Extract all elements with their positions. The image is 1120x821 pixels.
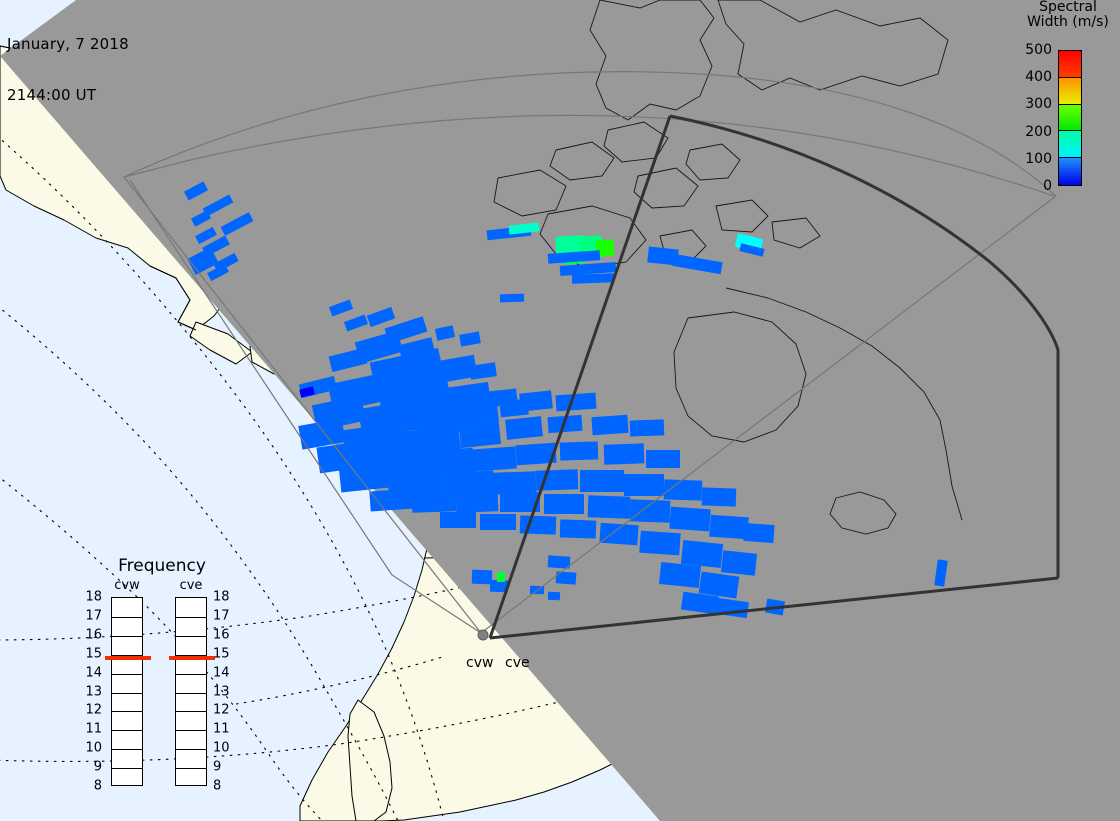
- frequency-gridline: [176, 636, 206, 637]
- frequency-gridline: [112, 711, 142, 712]
- frequency-tick-9: 9: [94, 760, 102, 775]
- fov-cve: [490, 116, 1058, 638]
- colorbar-segment-400-500: [1059, 51, 1081, 78]
- frequency-gridline: [112, 617, 142, 618]
- colorbar-title-line1: Spectral: [1016, 0, 1120, 15]
- frequency-tick-12: 12: [213, 703, 230, 718]
- frequency-gridline: [176, 749, 206, 750]
- frequency-tick-8: 8: [94, 779, 102, 794]
- frequency-scale-right: 18171615141312111098: [213, 597, 233, 786]
- colorbar-gradient: [1058, 50, 1082, 186]
- frequency-tick-16: 16: [213, 627, 230, 642]
- frequency-tick-17: 17: [213, 608, 230, 623]
- frequency-gridline: [176, 768, 206, 769]
- frequency-gridline: [176, 730, 206, 731]
- frequency-tick-18: 18: [85, 590, 102, 605]
- frequency-tick-17: 17: [85, 608, 102, 623]
- frequency-scale-left: 18171615141312111098: [82, 597, 102, 786]
- colorbar-segment-0-100: [1059, 158, 1081, 185]
- frequency-legend-title: Frequency: [88, 556, 236, 576]
- frequency-tick-10: 10: [213, 741, 230, 756]
- frequency-tick-12: 12: [85, 703, 102, 718]
- frequency-label-cvw: cvw: [104, 578, 150, 593]
- timestamp-date: January, 7 2018: [7, 36, 129, 53]
- colorbar-tick-200: 200: [1025, 124, 1052, 140]
- frequency-tick-11: 11: [213, 722, 230, 737]
- colorbar-segment-200-300: [1059, 105, 1081, 132]
- frequency-tick-8: 8: [213, 779, 221, 794]
- colorbar-tick-0: 0: [1043, 178, 1052, 194]
- site-label-cve: cve: [505, 655, 530, 671]
- frequency-gridline: [112, 636, 142, 637]
- frequency-tick-16: 16: [85, 627, 102, 642]
- colorbar-segment-100-200: [1059, 131, 1081, 158]
- frequency-tick-14: 14: [213, 665, 230, 680]
- frequency-gridline: [112, 768, 142, 769]
- frequency-tick-11: 11: [85, 722, 102, 737]
- frequency-marker-cvw: [105, 656, 151, 660]
- frequency-tick-9: 9: [213, 760, 221, 775]
- frequency-tick-14: 14: [85, 665, 102, 680]
- radar-site-marker: [478, 630, 488, 640]
- colorbar-title: Spectral Width (m/s): [1016, 0, 1120, 30]
- colorbar-tick-500: 500: [1025, 42, 1052, 58]
- fov-cve-far-arc: [670, 116, 1058, 578]
- colorbar-ticks: 5004003002001000: [1016, 42, 1054, 194]
- frequency-gridline: [176, 693, 206, 694]
- frequency-gridline: [176, 617, 206, 618]
- frequency-tick-18: 18: [213, 590, 230, 605]
- frequency-tick-15: 15: [85, 646, 102, 661]
- fov-cve-left-edge: [490, 116, 670, 638]
- fov-cvw-outline: [124, 115, 1054, 633]
- fov-cvw-arc: [124, 72, 1056, 196]
- frequency-tick-13: 13: [85, 684, 102, 699]
- colorbar-tick-400: 400: [1025, 69, 1052, 85]
- frequency-gridline: [176, 711, 206, 712]
- site-label-cvw: cvw: [466, 655, 493, 671]
- frequency-tick-13: 13: [213, 684, 230, 699]
- frequency-marker-cve: [169, 656, 215, 660]
- frequency-tick-15: 15: [213, 646, 230, 661]
- frequency-tick-10: 10: [85, 741, 102, 756]
- superdarn-fan-plot: January, 7 2018 2144:00 UT Spectral Widt…: [0, 0, 1120, 821]
- colorbar-tick-100: 100: [1025, 151, 1052, 167]
- frequency-gridline: [176, 674, 206, 675]
- frequency-legend: Frequency cvw cve 18171615141312111098 1…: [88, 556, 236, 811]
- timestamp-time: 2144:00 UT: [7, 87, 129, 104]
- colorbar-tick-300: 300: [1025, 96, 1052, 112]
- frequency-bar-cvw: [111, 597, 143, 786]
- fov-cve-bottom-edge: [490, 578, 1058, 638]
- colorbar-title-line2: Width (m/s): [1016, 15, 1120, 30]
- colorbar-segment-300-400: [1059, 78, 1081, 105]
- frequency-gridline: [112, 749, 142, 750]
- frequency-gridline: [112, 674, 142, 675]
- frequency-bar-cve: [175, 597, 207, 786]
- colorbar: Spectral Width (m/s) 5004003002001000: [1016, 0, 1120, 200]
- timestamp: January, 7 2018 2144:00 UT: [7, 2, 129, 138]
- frequency-gridline: [112, 693, 142, 694]
- frequency-label-cve: cve: [168, 578, 214, 593]
- frequency-gridline: [112, 730, 142, 731]
